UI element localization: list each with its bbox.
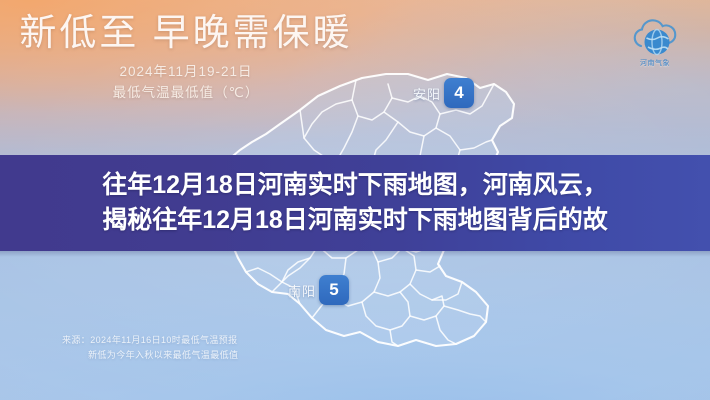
subtitle-date: 2024年11月19-21日 <box>0 62 372 83</box>
caption-band-shadow <box>0 251 710 257</box>
henan-meteorology-logo: 河南气象 <box>624 16 686 78</box>
city-temperature-badge: 5 <box>319 275 349 305</box>
caption-overlay-band: 往年12月18日河南实时下雨地图，河南风云， 揭秘往年12月18日河南实时下雨地… <box>0 155 710 251</box>
caption-line-2: 揭秘往年12月18日河南实时下雨地图背后的故 <box>102 203 608 239</box>
source-note: 来源：2024年11月16日10时最低气温预报 新低为今年入秋以来最低气温最低值 <box>62 333 238 364</box>
city-temperature-badge: 4 <box>444 78 474 108</box>
city-name-label: 南阳 <box>288 281 316 300</box>
logo-caption: 河南气象 <box>624 58 686 68</box>
poster-headline-block: 新低至 早晚需保暖 2024年11月19-21日 最低气温最低值（℃） <box>0 12 372 104</box>
city-marker-nanyang: 南阳 5 <box>288 275 349 305</box>
source-note-line1: 来源：2024年11月16日10时最低气温预报 <box>62 333 238 348</box>
city-name-label: 安阳 <box>413 84 441 103</box>
poster-headline: 新低至 早晚需保暖 <box>0 12 372 53</box>
poster-subtitle: 2024年11月19-21日 最低气温最低值（℃） <box>0 62 372 104</box>
weather-poster: 安阳 4 周口 4 南阳 5 新低至 早晚需保暖 2024年11月19-21日 … <box>0 0 710 400</box>
city-marker-anyang: 安阳 4 <box>413 78 474 108</box>
source-note-line2: 新低为今年入秋以来最低气温最低值 <box>62 348 238 363</box>
caption-line-1: 往年12月18日河南实时下雨地图，河南风云， <box>102 168 608 204</box>
subtitle-metric: 最低气温最低值（℃） <box>0 83 372 104</box>
